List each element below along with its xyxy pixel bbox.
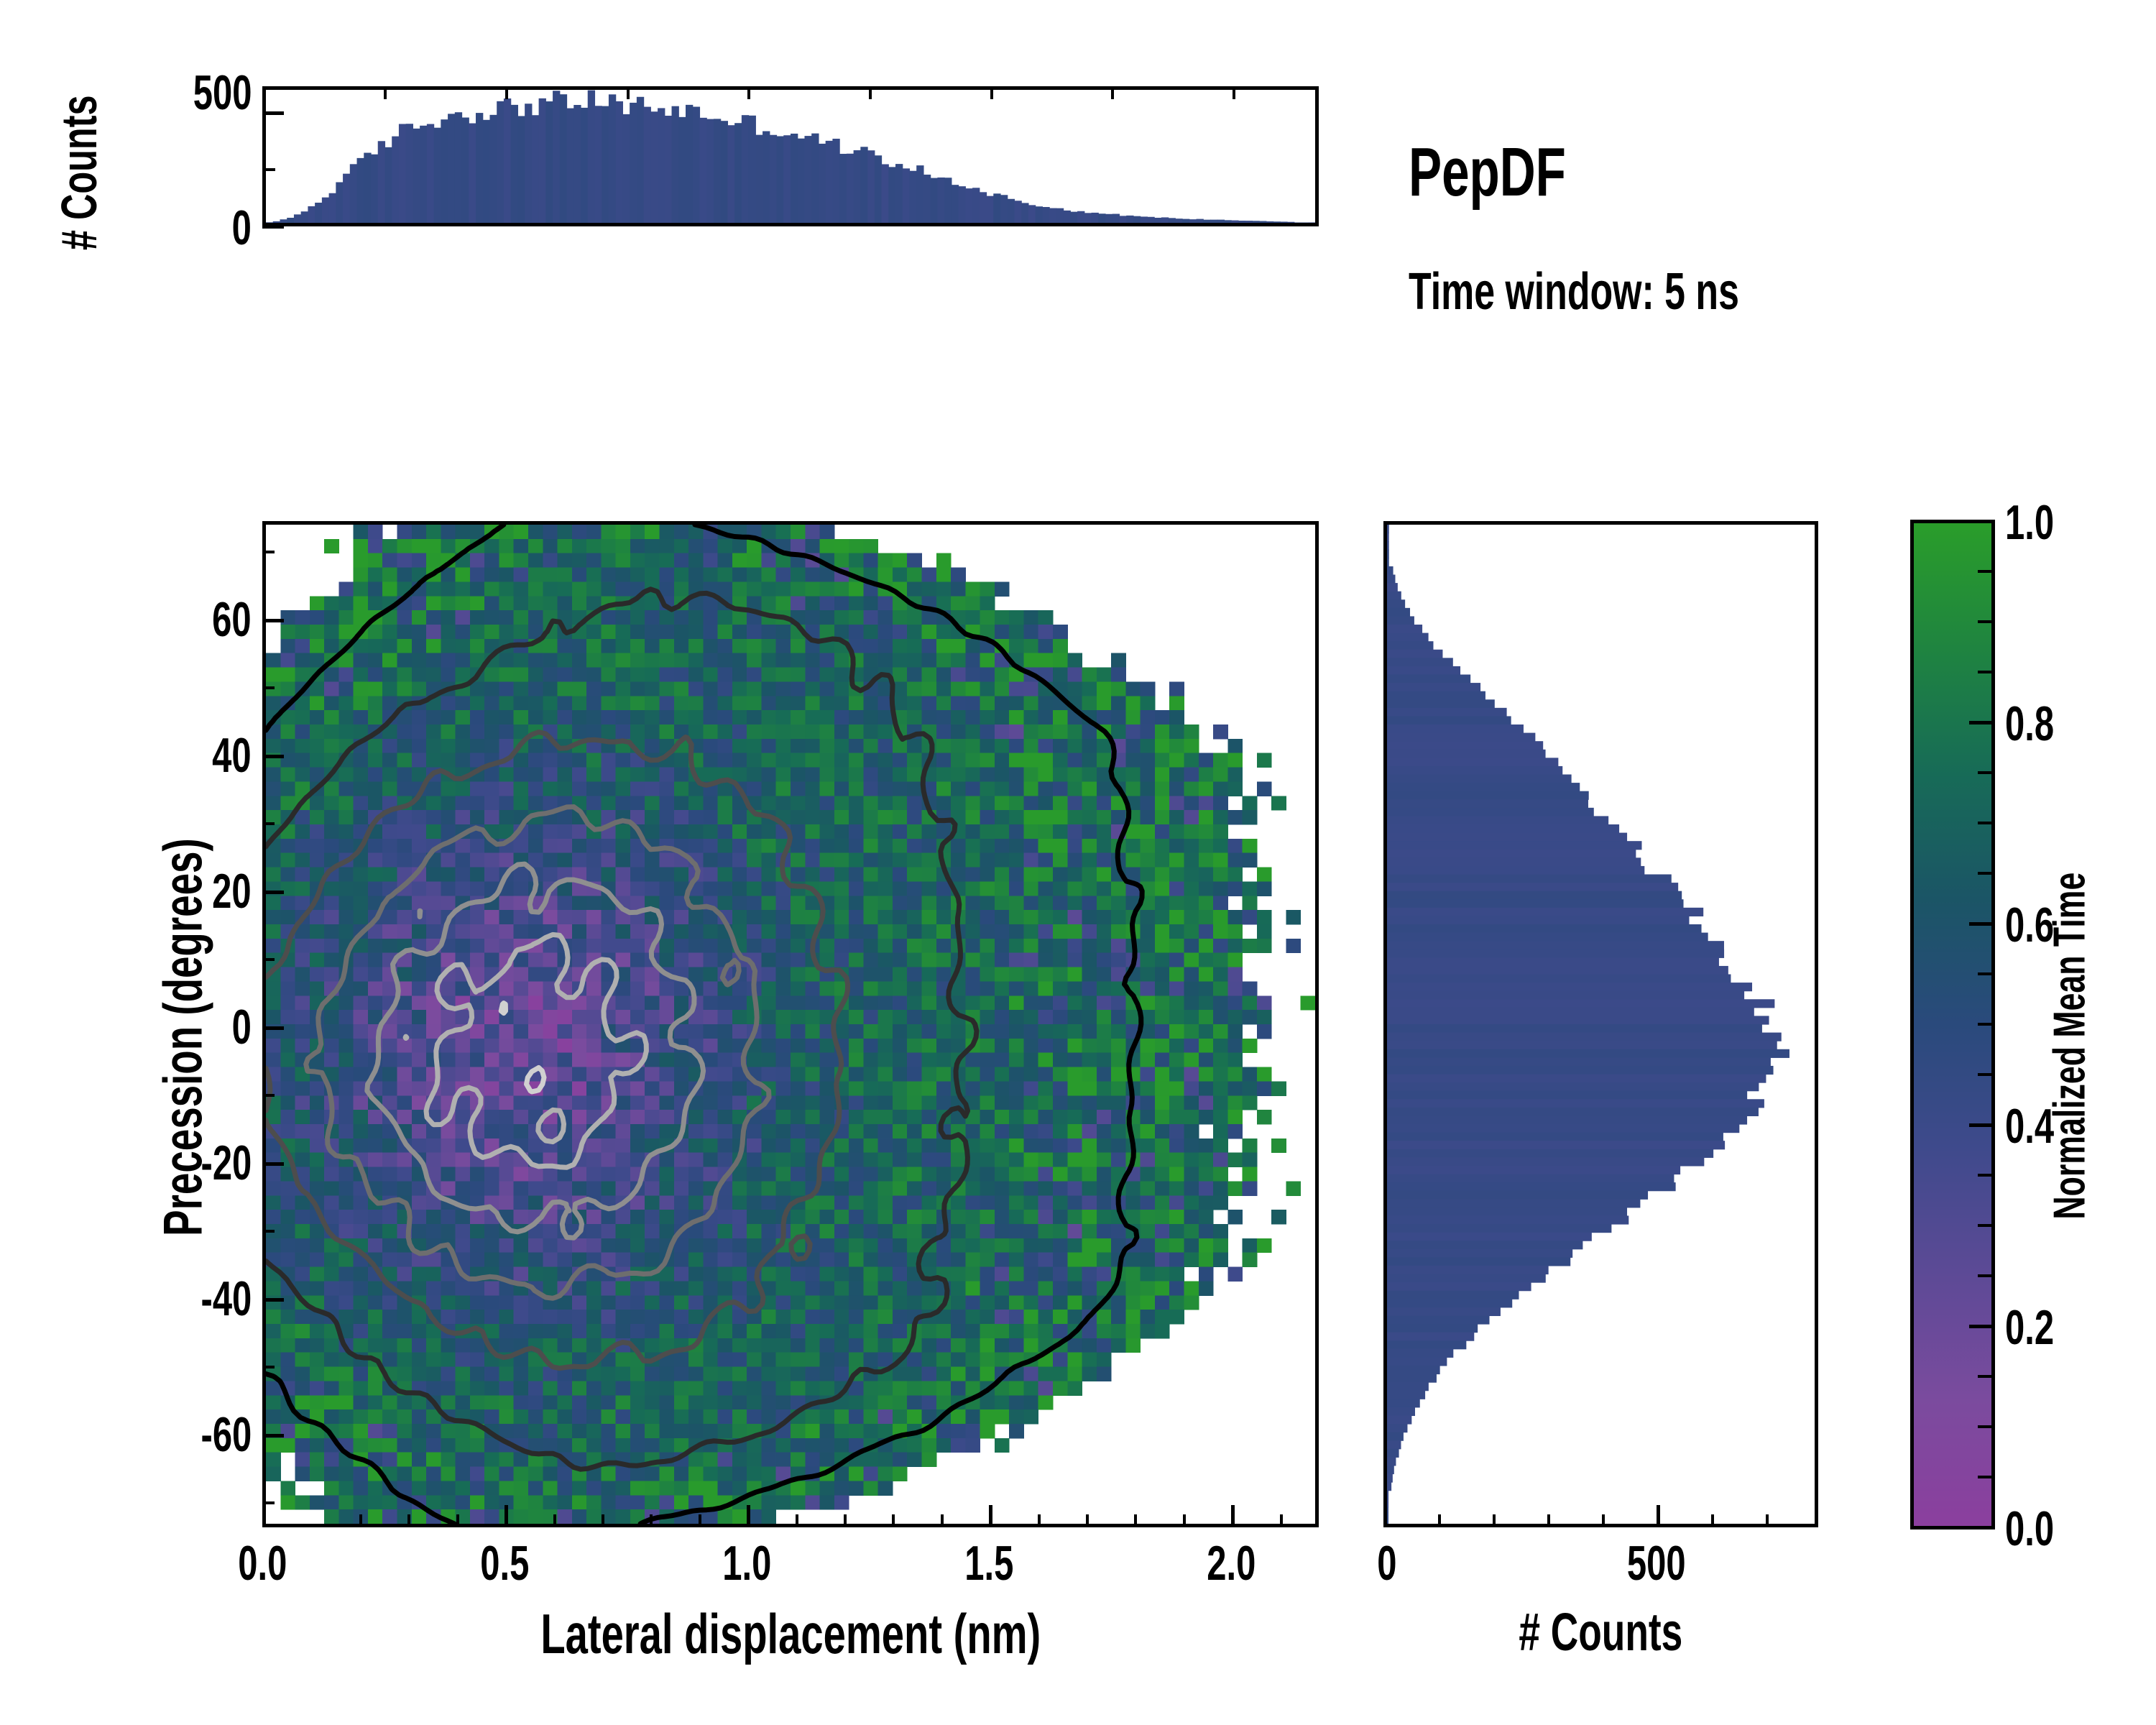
tick-cbar-minor-4 <box>1978 1274 1991 1277</box>
top-hist-ytick-500: 500 <box>170 65 252 121</box>
tick-cbar-minor-7 <box>1978 1073 1991 1076</box>
tick-cbar-minor-2 <box>1978 1375 1991 1378</box>
tick-right-x-0 <box>1383 1505 1387 1527</box>
tick-main-x-15 <box>989 1505 992 1527</box>
tick-main-x-minor-7 <box>699 1514 701 1527</box>
main-xtick-05: 0.5 <box>451 1535 558 1591</box>
top-hist-ytick-0: 0 <box>224 200 252 256</box>
tick-main-x-05 <box>505 1505 508 1527</box>
right-hist-xtick-500: 500 <box>1603 1535 1710 1591</box>
tick-main-x-minor-15 <box>1183 1514 1186 1527</box>
tick-main-y-0 <box>262 1026 284 1030</box>
annotation-title: PepDF <box>1409 133 1627 212</box>
tick-cbar-minor-3 <box>1978 1476 1991 1478</box>
tick-main-y-minor-6 <box>262 1230 275 1233</box>
tick-top-x-minor-8 <box>1233 86 1235 99</box>
tick-main-y-60 <box>262 619 284 622</box>
tick-cbar-minor-5 <box>1978 1224 1991 1227</box>
cbar-tick-10: 1.0 <box>2005 494 2073 551</box>
tick-main-y-m20 <box>262 1162 284 1166</box>
tick-main-x-minor-14 <box>1134 1514 1137 1527</box>
tick-top-x-minor-5 <box>869 86 872 99</box>
tick-main-y-minor-2 <box>262 686 275 689</box>
tick-cbar-minor-12 <box>1978 771 1991 774</box>
tick-main-y-minor-3 <box>262 822 275 825</box>
main-xlabel: Lateral displacement (nm) <box>262 1601 1319 1667</box>
tick-cbar-minor-6 <box>1978 1174 1991 1177</box>
main-xtick-00: 0.0 <box>208 1535 316 1591</box>
tick-main-y-20 <box>262 891 284 894</box>
tick-top-y-minor-250 <box>262 168 275 171</box>
tick-main-x-minor-5 <box>602 1514 604 1527</box>
tick-main-x-20 <box>1231 1505 1235 1527</box>
tick-main-y-minor-5 <box>262 1094 275 1097</box>
tick-main-y-m60 <box>262 1434 284 1437</box>
right-hist-xtick-0: 0 <box>1351 1535 1423 1591</box>
tick-right-x-500 <box>1657 1505 1660 1527</box>
tick-main-x-minor-3 <box>456 1514 459 1527</box>
tick-right-x-minor-3 <box>1547 1514 1550 1527</box>
tick-main-y-40 <box>262 755 284 758</box>
tick-cbar-00 <box>1969 1526 1991 1529</box>
colorbar-label: Normalized Mean Time <box>2045 543 2096 1550</box>
tick-right-y-top-left <box>1383 521 1405 525</box>
main-heatmap-panel <box>262 521 1319 1527</box>
top-hist-ylabel: # Counts <box>50 18 108 327</box>
tick-main-x-10 <box>747 1505 750 1527</box>
tick-main-x-minor-1 <box>359 1514 362 1527</box>
tick-cbar-10 <box>1969 520 1991 523</box>
tick-cbar-minor-1 <box>1978 1425 1991 1428</box>
main-xtick-20: 2.0 <box>1177 1535 1285 1591</box>
tick-right-x-minor-4 <box>1602 1514 1605 1527</box>
tick-cbar-minor-9 <box>1978 972 1991 975</box>
tick-main-x-minor-4 <box>553 1514 556 1527</box>
tick-top-x-minor-3 <box>627 86 630 99</box>
tick-top-x-minor-2 <box>505 86 508 99</box>
tick-main-x-minor-9 <box>844 1514 847 1527</box>
tick-cbar-minor-8 <box>1978 1023 1991 1026</box>
tick-main-x-minor-12 <box>1038 1514 1041 1527</box>
tick-right-y-top-right <box>1797 521 1818 525</box>
tick-cbar-08 <box>1969 721 1991 724</box>
right-marginal-histogram <box>1383 521 1818 1527</box>
tick-main-y-minor-4 <box>262 958 275 961</box>
main-ytick-0: 0 <box>224 999 252 1055</box>
tick-right-x-minor-2 <box>1493 1514 1496 1527</box>
tick-main-x-minor-16 <box>1280 1514 1283 1527</box>
tick-main-x-minor-8 <box>796 1514 798 1527</box>
tick-top-y-500 <box>262 111 284 115</box>
main-xtick-10: 1.0 <box>693 1535 801 1591</box>
tick-right-x-minor-5 <box>1711 1514 1714 1527</box>
tick-cbar-02 <box>1969 1325 1991 1328</box>
tick-main-y-minor-7 <box>262 1366 275 1368</box>
top-marginal-histogram <box>262 86 1319 226</box>
tick-cbar-minor-15 <box>1978 570 1991 573</box>
tick-top-x-minor-7 <box>1111 86 1114 99</box>
tick-cbar-04 <box>1969 1123 1991 1127</box>
tick-main-x-minor-2 <box>407 1514 410 1527</box>
tick-cbar-minor-11 <box>1978 822 1991 824</box>
tick-cbar-minor-13 <box>1978 671 1991 673</box>
right-hist-xlabel: # Counts <box>1383 1601 1818 1662</box>
tick-top-x-minor-6 <box>990 86 993 99</box>
tick-cbar-06 <box>1969 922 1991 926</box>
tick-main-x-minor-10 <box>892 1514 895 1527</box>
tick-main-y-minor-8 <box>262 1501 275 1504</box>
tick-right-x-minor-6 <box>1766 1514 1769 1527</box>
main-xtick-15: 1.5 <box>935 1535 1043 1591</box>
tick-right-x-minor-1 <box>1438 1514 1441 1527</box>
figure-canvas: 500 0 # Counts PepDF Time window: 5 ns <box>0 0 2156 1725</box>
heatmap-canvas <box>266 525 1315 1524</box>
tick-main-x-minor-11 <box>941 1514 944 1527</box>
right-histogram-bars <box>1387 525 1815 1524</box>
tick-main-x-minor-6 <box>650 1514 653 1527</box>
tick-top-x-minor-1 <box>384 86 387 99</box>
tick-cbar-minor-14 <box>1978 620 1991 623</box>
annotation-subtitle: Time window: 5 ns <box>1409 262 1868 321</box>
tick-main-x-minor-13 <box>1086 1514 1089 1527</box>
top-histogram-bars <box>266 90 1315 223</box>
tick-cbar-minor-10 <box>1978 872 1991 875</box>
tick-main-y-minor-1 <box>262 551 275 553</box>
tick-main-y-m40 <box>262 1298 284 1302</box>
tick-top-y-0 <box>262 225 284 229</box>
main-ylabel: Precession (degrees) <box>152 416 215 1660</box>
tick-top-x-minor-4 <box>747 86 750 99</box>
tick-main-x-00 <box>262 1505 266 1527</box>
